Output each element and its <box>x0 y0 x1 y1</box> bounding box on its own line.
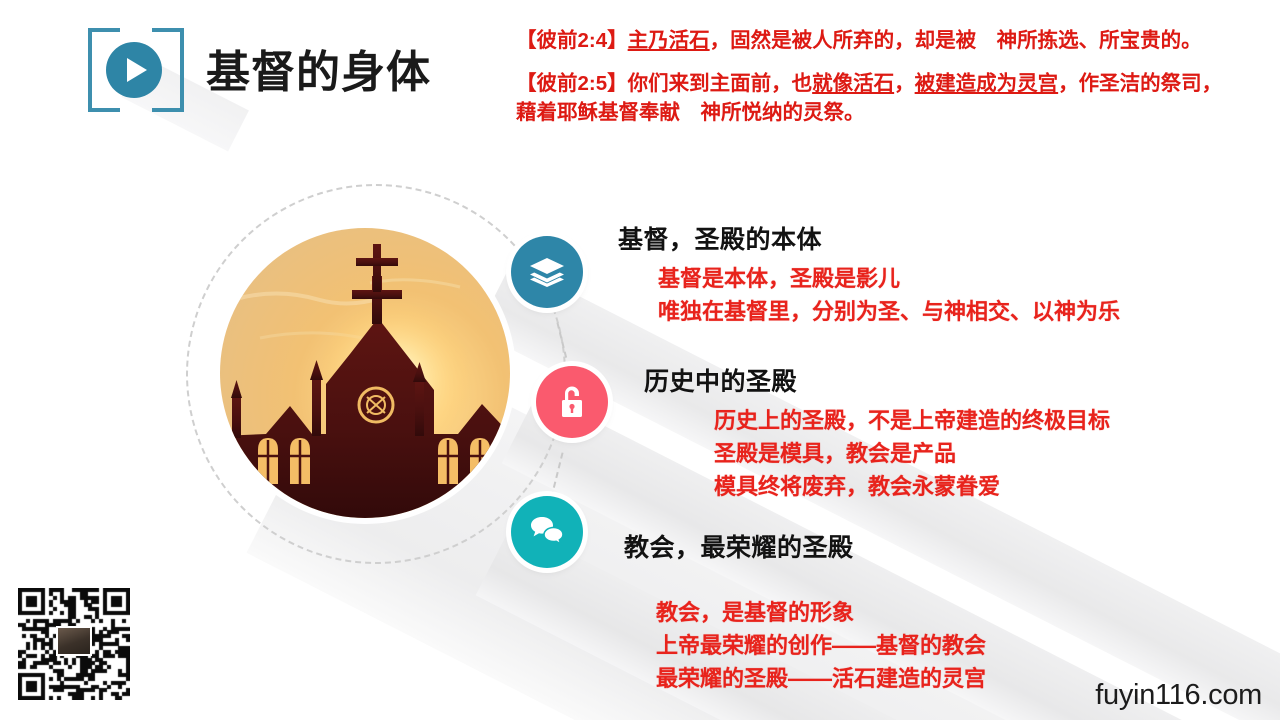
section-1: 基督，圣殿的本体 基督是本体，圣殿是影儿 唯独在基督里，分别为圣、与神相交、以神… <box>618 220 1120 328</box>
node-icon-unlock[interactable] <box>536 366 608 438</box>
site-watermark: fuyin116.com <box>1095 679 1262 712</box>
layers-icon <box>529 257 565 287</box>
qr-code[interactable] <box>18 588 130 700</box>
play-circle-icon <box>106 42 162 98</box>
unlock-icon <box>557 384 587 420</box>
verse-1-reference: 【彼前2:4】 <box>516 29 628 52</box>
section-1-line-2: 唯独在基督里，分别为圣、与神相交、以神为乐 <box>658 295 1120 328</box>
verse-1-underlined: 主乃活石 <box>628 29 710 52</box>
section-2-line-3: 模具终将废弃，教会永蒙眷爱 <box>714 470 1110 503</box>
verse-2-underlined-1: 就像活石 <box>812 72 894 95</box>
section-3-line-1: 教会，是基督的形象 <box>656 596 986 629</box>
section-2-heading: 历史中的圣殿 <box>644 362 1110 398</box>
section-2-lines: 历史上的圣殿，不是上帝建造的终极目标 圣殿是模具，教会是产品 模具终将废弃，教会… <box>714 404 1110 503</box>
section-1-line-1: 基督是本体，圣殿是影儿 <box>658 262 1120 295</box>
verse-2-underlined-2: 被建造成为灵宫 <box>915 72 1059 95</box>
section-2: 历史中的圣殿 历史上的圣殿，不是上帝建造的终极目标 圣殿是模具，教会是产品 模具… <box>644 362 1110 503</box>
scripture-verse-1: 【彼前2:4】主乃活石，固然是被人所弃的，却是被 神所拣选、所宝贵的。 <box>516 26 1232 55</box>
verse-2-reference: 【彼前2:5】 <box>516 72 628 95</box>
section-3-line-2: 上帝最荣耀的创作——基督的教会 <box>656 629 986 662</box>
chat-bubbles-icon <box>530 516 564 548</box>
node-icon-chat[interactable] <box>511 496 583 568</box>
node-icon-layers[interactable] <box>511 236 583 308</box>
qr-center-logo <box>56 626 92 656</box>
page-title: 基督的身体 <box>206 36 431 100</box>
play-button-icon <box>88 28 184 112</box>
section-2-line-1: 历史上的圣殿，不是上帝建造的终极目标 <box>714 404 1110 437</box>
verse-2-part-2: ， <box>894 72 915 95</box>
connector-line-2 <box>550 452 563 497</box>
section-1-lines: 基督是本体，圣殿是影儿 唯独在基督里，分别为圣、与神相交、以神为乐 <box>658 262 1120 328</box>
church-silhouette-sunset-photo <box>220 228 510 518</box>
section-3-heading: 教会，最荣耀的圣殿 <box>624 528 986 564</box>
play-triangle-icon <box>127 58 147 82</box>
verse-1-body: ，固然是被人所弃的，却是被 神所拣选、所宝贵的。 <box>710 29 1202 52</box>
scripture-block: 【彼前2:4】主乃活石，固然是被人所弃的，却是被 神所拣选、所宝贵的。 【彼前2… <box>516 26 1232 127</box>
section-1-heading: 基督，圣殿的本体 <box>618 220 1120 256</box>
section-3-line-3: 最荣耀的圣殿——活石建造的灵宫 <box>656 662 986 695</box>
section-3-lines: 教会，是基督的形象 上帝最荣耀的创作——基督的教会 最荣耀的圣殿——活石建造的灵… <box>656 596 986 695</box>
section-3: 教会，最荣耀的圣殿 教会，是基督的形象 上帝最荣耀的创作——基督的教会 最荣耀的… <box>624 528 986 695</box>
slide-canvas: 基督的身体 【彼前2:4】主乃活石，固然是被人所弃的，却是被 神所拣选、所宝贵的… <box>0 0 1280 720</box>
verse-2-part-1: 你们来到主面前，也 <box>628 72 813 95</box>
scripture-verse-2: 【彼前2:5】你们来到主面前，也就像活石，被建造成为灵宫，作圣洁的祭司，藉着耶稣… <box>516 69 1232 127</box>
section-2-line-2: 圣殿是模具，教会是产品 <box>714 437 1110 470</box>
